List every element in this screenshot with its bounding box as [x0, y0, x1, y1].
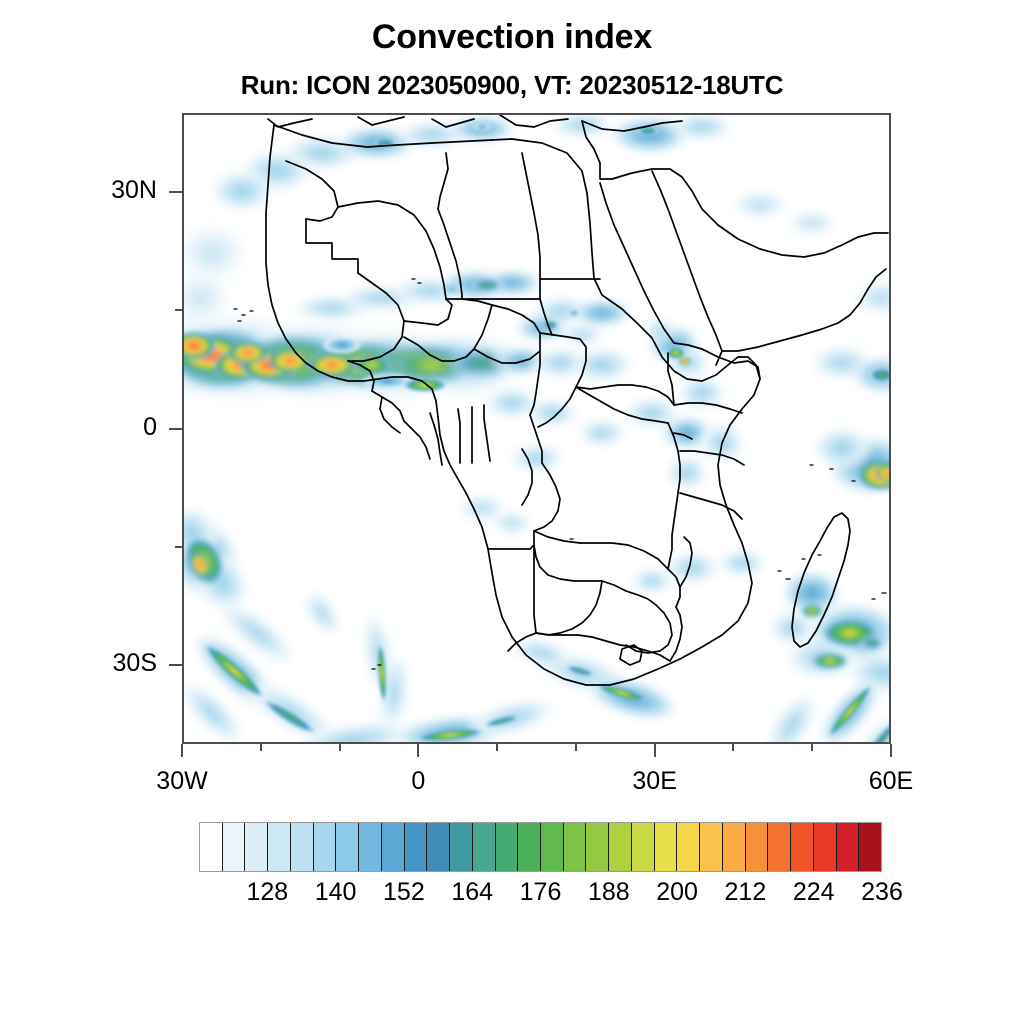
- colorbar-cell: [268, 823, 291, 871]
- colorbar-cell: [496, 823, 519, 871]
- colorbar-cell: [859, 823, 881, 871]
- y-axis-label: 30N: [0, 176, 157, 205]
- x-axis-tick: [339, 744, 341, 751]
- colorbar-cell: [518, 823, 541, 871]
- colorbar-cell: [837, 823, 860, 871]
- page-title: Convection index: [0, 18, 1024, 57]
- colorbar-cell: [700, 823, 723, 871]
- colorbar-cell: [791, 823, 814, 871]
- colorbar-cell: [291, 823, 314, 871]
- x-axis-label: 30W: [122, 767, 242, 796]
- x-axis-tick: [890, 744, 892, 757]
- convection-map: [182, 113, 891, 744]
- colorbar-cell: [677, 823, 700, 871]
- x-axis-label: 30E: [595, 767, 715, 796]
- y-axis-tick: [175, 309, 182, 311]
- colorbar-cell: [632, 823, 655, 871]
- colorbar-cell: [586, 823, 609, 871]
- x-axis-tick: [260, 744, 262, 751]
- colorbar-cell: [245, 823, 268, 871]
- y-axis-tick: [169, 428, 182, 430]
- colorbar-cell: [768, 823, 791, 871]
- map-plot-area: [182, 113, 891, 744]
- colorbar-cell: [405, 823, 428, 871]
- x-axis-tick: [417, 744, 419, 757]
- colorbar-cell: [655, 823, 678, 871]
- colorbar-cell: [359, 823, 382, 871]
- y-axis-label: 0: [0, 413, 157, 442]
- colorbar-cell: [314, 823, 337, 871]
- convection-index-map-page: Convection index Run: ICON 2023050900, V…: [0, 0, 1024, 1024]
- x-axis-tick: [496, 744, 498, 751]
- x-axis-tick: [811, 744, 813, 751]
- x-axis-tick: [654, 744, 656, 757]
- x-axis-tick: [575, 744, 577, 751]
- colorbar-tick-label: 236: [832, 878, 932, 907]
- x-axis-tick: [181, 744, 183, 757]
- colorbar-cell: [200, 823, 223, 871]
- colorbar-cell: [450, 823, 473, 871]
- colorbar-cell: [609, 823, 632, 871]
- y-axis-tick: [169, 191, 182, 193]
- colorbar-cell: [564, 823, 587, 871]
- y-axis-tick: [175, 546, 182, 548]
- colorbar: 128140152164176188200212224236: [199, 822, 882, 872]
- page-subtitle: Run: ICON 2023050900, VT: 20230512-18UTC: [0, 70, 1024, 101]
- colorbar-cell: [382, 823, 405, 871]
- colorbar-cell: [427, 823, 450, 871]
- colorbar-cell: [723, 823, 746, 871]
- colorbar-cell: [336, 823, 359, 871]
- colorbar-cell: [814, 823, 837, 871]
- x-axis-label: 60E: [831, 767, 951, 796]
- colorbar-cell: [541, 823, 564, 871]
- colorbar-cell: [223, 823, 246, 871]
- colorbar-cells: [199, 822, 882, 872]
- colorbar-cell: [473, 823, 496, 871]
- x-axis-tick: [732, 744, 734, 751]
- y-axis-tick: [169, 664, 182, 666]
- colorbar-cell: [746, 823, 769, 871]
- y-axis-label: 30S: [0, 649, 157, 678]
- x-axis-label: 0: [358, 767, 478, 796]
